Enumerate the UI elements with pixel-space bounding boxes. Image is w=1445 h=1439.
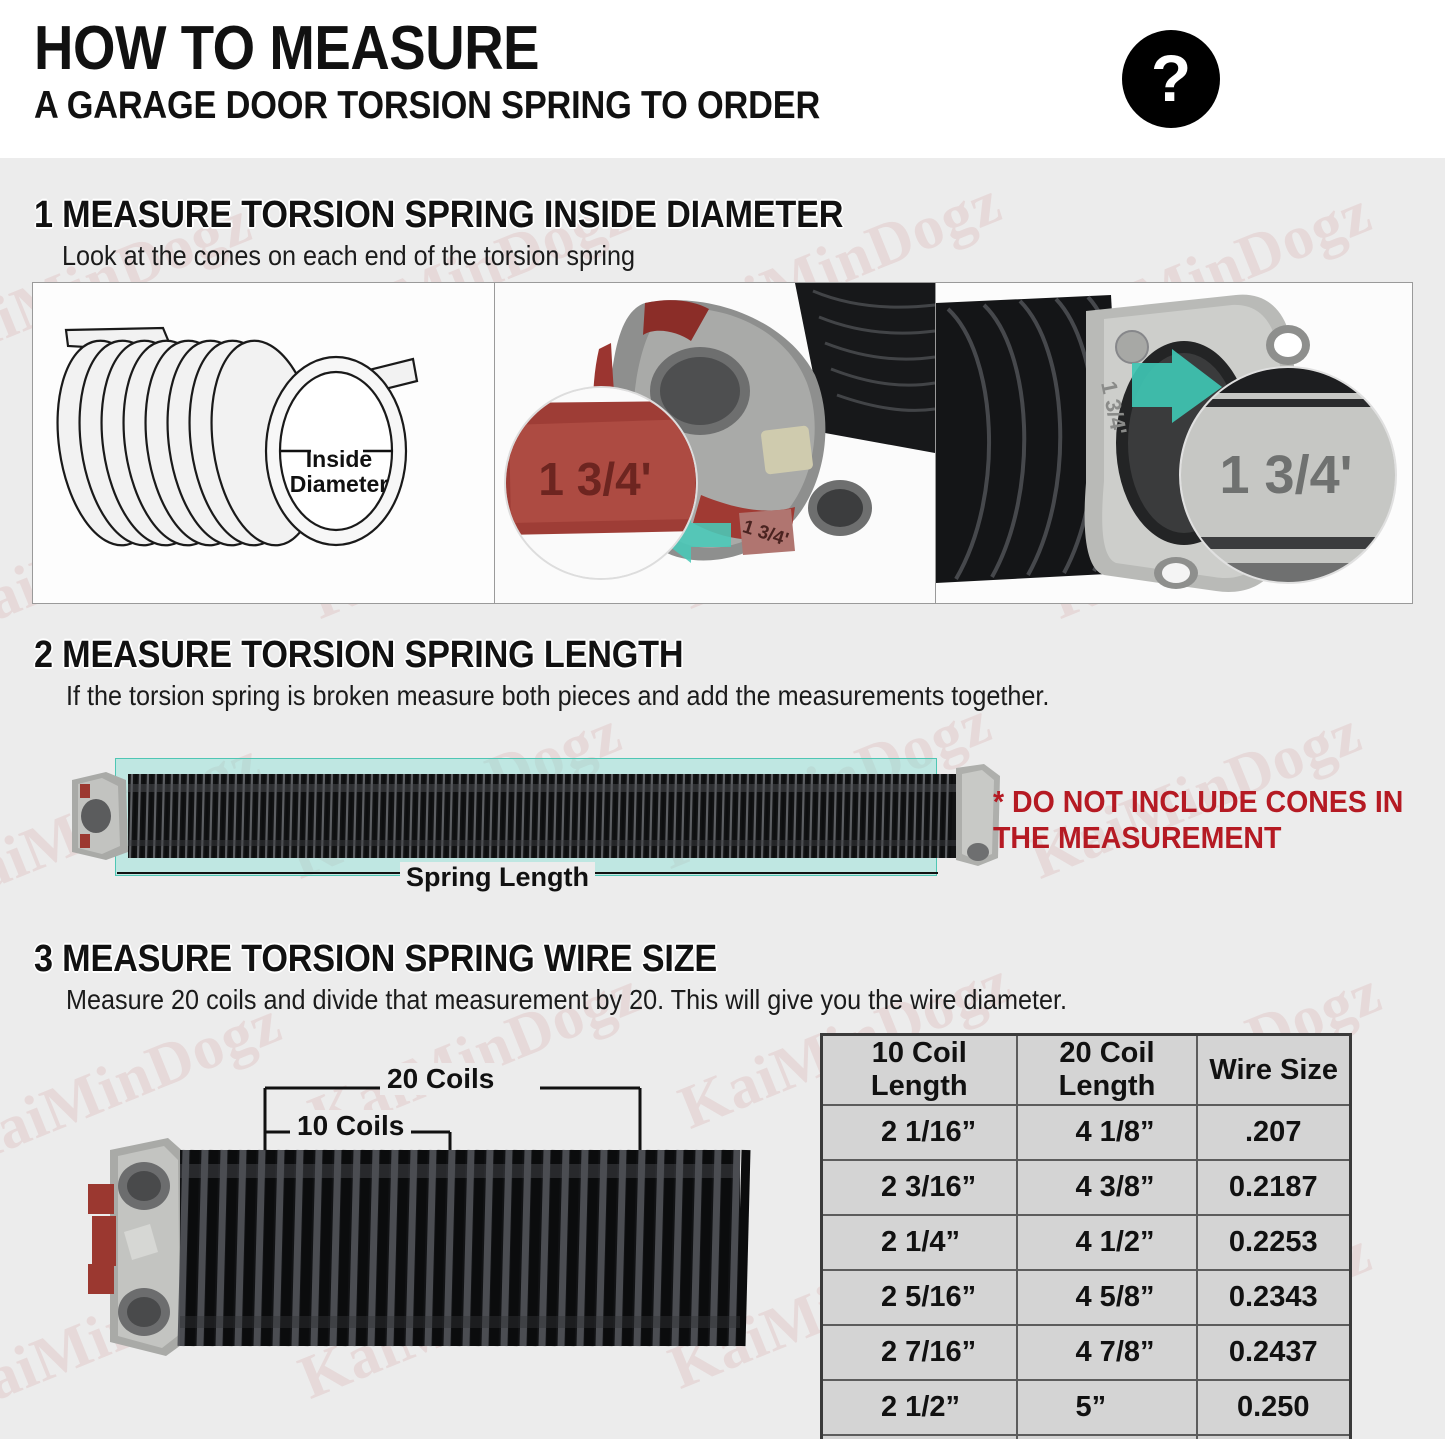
section-1-panels: Inside Diameter [32, 282, 1413, 604]
table-row: 2 1/16”4 1/8”.207 [822, 1105, 1351, 1160]
section-3-subheading: Measure 20 coils and divide that measure… [66, 984, 1067, 1016]
silver-cone-photo-illustration: 1 3/4' 1 3/4' [936, 283, 1412, 603]
table-cell: 2 1/16” [822, 1105, 1017, 1160]
table-cell: 0.2187 [1197, 1160, 1350, 1215]
table-cell: 0.250 [1197, 1380, 1350, 1435]
section-1-heading: 1 MEASURE TORSION SPRING INSIDE DIAMETER [34, 194, 843, 236]
table-cell: 2 7/16” [822, 1325, 1017, 1380]
cones-warning-line2: THE MEASUREMENT [993, 820, 1403, 856]
long-spring-photo [72, 762, 1012, 870]
infographic-page: KaiMinDogzKaiMinDogzKaiMinDogzKaiMinDogz… [0, 0, 1445, 1439]
bracket-label-10-coils: 10 Coils [290, 1110, 411, 1142]
red-cone-photo-illustration: 1 3/4' 1 3/4' [495, 283, 934, 603]
page-subtitle: A GARAGE DOOR TORSION SPRING TO ORDER [34, 84, 820, 128]
section-3-heading: 3 MEASURE TORSION SPRING WIRE SIZE [34, 938, 717, 980]
silver-cone-callout-text: 1 3/4' [1219, 445, 1352, 505]
table-cell: 2 1/4” [822, 1215, 1017, 1270]
table-header-row: 10 Coil Length 20 Coil Length Wire Size [822, 1035, 1351, 1106]
table-cell: 4 3/8” [1017, 1160, 1198, 1215]
long-spring-illustration [72, 762, 1012, 870]
table-cell: 2 3/16” [822, 1160, 1017, 1215]
header-titles: HOW TO MEASURE A GARAGE DOOR TORSION SPR… [34, 16, 927, 128]
inside-diameter-label-line2: Diameter [269, 472, 409, 497]
table-cell: 5” [1017, 1380, 1198, 1435]
table-cell: 4 7/8” [1017, 1325, 1198, 1380]
inside-diameter-label-line1: Inside [269, 447, 409, 472]
spring-inside-diameter-drawing [33, 283, 494, 603]
panel-red-cone-photo: 1 3/4' 1 3/4' [494, 283, 934, 603]
table-cell: 0.2343 [1197, 1270, 1350, 1325]
table-cell: 2 5/8” [822, 1435, 1017, 1439]
bracket-label-20-coils: 20 Coils [380, 1063, 501, 1095]
panel-silver-cone-photo: 1 3/4' 1 3/4' [935, 283, 1412, 603]
section-1-subheading: Look at the cones on each end of the tor… [62, 240, 635, 272]
table-cell: 0.2437 [1197, 1325, 1350, 1380]
table-cell: .207 [1197, 1105, 1350, 1160]
table-row: 2 7/16”4 7/8”0.2437 [822, 1325, 1351, 1380]
coil-count-illustration [40, 1050, 800, 1400]
table-row: 2 5/16”4 5/8”0.2343 [822, 1270, 1351, 1325]
table-cell: 5 1/4” [1017, 1435, 1198, 1439]
table-header-10-coil: 10 Coil Length [822, 1035, 1017, 1106]
table-cell: 0.2625 [1197, 1435, 1350, 1439]
left-cone [72, 772, 128, 860]
section-2-heading: 2 MEASURE TORSION SPRING LENGTH [34, 634, 683, 676]
cones-warning-text: * DO NOT INCLUDE CONES IN THE MEASUREMEN… [993, 784, 1403, 856]
table-cell: 4 1/8” [1017, 1105, 1198, 1160]
table-row: 2 1/4”4 1/2”0.2253 [822, 1215, 1351, 1270]
table-cell: 2 5/16” [822, 1270, 1017, 1325]
section-2-subheading: If the torsion spring is broken measure … [66, 680, 1049, 712]
cones-warning-line1: * DO NOT INCLUDE CONES IN [993, 784, 1403, 820]
header-band: HOW TO MEASURE A GARAGE DOOR TORSION SPR… [0, 0, 1445, 158]
table-cell: 4 1/2” [1017, 1215, 1198, 1270]
question-mark-icon: ? [1122, 30, 1220, 128]
table-cell: 0.2253 [1197, 1215, 1350, 1270]
table-row: 2 3/16”4 3/8”0.2187 [822, 1160, 1351, 1215]
table-header-20-coil: 20 Coil Length [1017, 1035, 1198, 1106]
table-row: 2 1/2”5”0.250 [822, 1380, 1351, 1435]
table-header-wire-size: Wire Size [1197, 1035, 1350, 1106]
wire-size-table: 10 Coil Length 20 Coil Length Wire Size … [820, 1033, 1352, 1439]
red-cone-callout-text: 1 3/4' [539, 453, 652, 505]
table-cell: 4 5/8” [1017, 1270, 1198, 1325]
coil-count-figure [40, 1050, 800, 1400]
coil-left-cone [88, 1138, 188, 1356]
page-title: HOW TO MEASURE [34, 16, 820, 82]
table-body: 2 1/16”4 1/8”.2072 3/16”4 3/8”0.21872 1/… [822, 1105, 1351, 1439]
table-cell: 2 1/2” [822, 1380, 1017, 1435]
spring-length-label: Spring Length [400, 862, 595, 893]
panel-spring-diagram: Inside Diameter [33, 283, 494, 603]
inside-diameter-label: Inside Diameter [269, 447, 409, 497]
table-row: 2 5/8”5 1/4”0.2625 [822, 1435, 1351, 1439]
